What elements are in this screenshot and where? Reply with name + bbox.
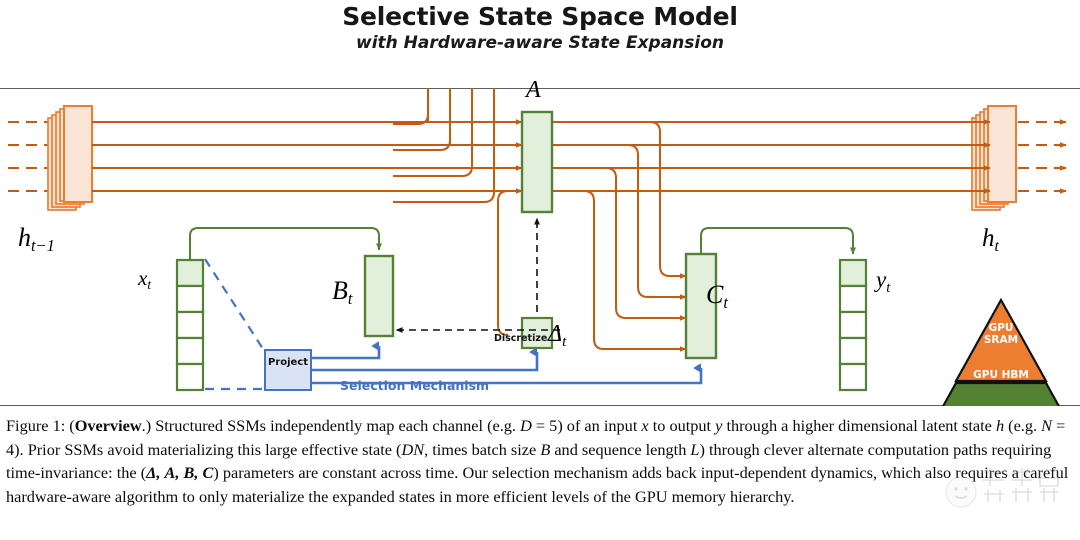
outgoing-recurrence-dashes (1018, 122, 1056, 191)
selection-mechanism-label: Selection Mechanism (340, 380, 489, 393)
ct-to-yt-path (701, 228, 853, 254)
matrix-bt-block (365, 256, 393, 336)
project-box[interactable] (265, 350, 311, 390)
gpu-sram-label: GPUSRAM (958, 322, 1044, 346)
incoming-recurrence-dashes (8, 122, 48, 191)
h-prev-block (48, 106, 92, 210)
bt-risers (428, 114, 494, 192)
label-x-t: xt (138, 268, 151, 289)
delta-feed-path (498, 191, 508, 335)
a-to-ct-paths (584, 122, 686, 349)
label-h-t: ht (982, 226, 999, 251)
x-t-vector (177, 260, 203, 390)
label-b-t: Bt (332, 278, 352, 304)
label-y-t: yt (876, 268, 890, 291)
recurrence-rails-left (92, 122, 522, 191)
gpu-memory-pyramid (941, 300, 1061, 406)
recurrence-rails-right (552, 122, 990, 191)
page-subtitle: with Hardware-aware State Expansion (0, 33, 1080, 53)
discretize-label: Discretize (494, 334, 547, 344)
figure-page: Selective State Space Model with Hardwar… (0, 0, 1080, 540)
project-label: Project (268, 358, 308, 368)
figure-caption: Figure 1: (Overview.) Structured SSMs in… (6, 414, 1074, 508)
page-title: Selective State Space Model (0, 2, 1080, 31)
gpu-hbm-label: GPU HBM (958, 370, 1044, 381)
label-delta-t: Δt (548, 322, 566, 346)
ssm-diagram (0, 88, 1080, 406)
expansion-cone-dashes (205, 259, 265, 389)
label-h-prev: ht−1 (18, 225, 55, 251)
label-c-t: Ct (706, 282, 728, 308)
label-a: A (526, 78, 541, 102)
y-t-vector (840, 260, 866, 390)
matrix-a-block (522, 112, 552, 212)
xt-to-bt-path (190, 228, 379, 260)
outgoing-arrowheads (1056, 122, 1066, 191)
